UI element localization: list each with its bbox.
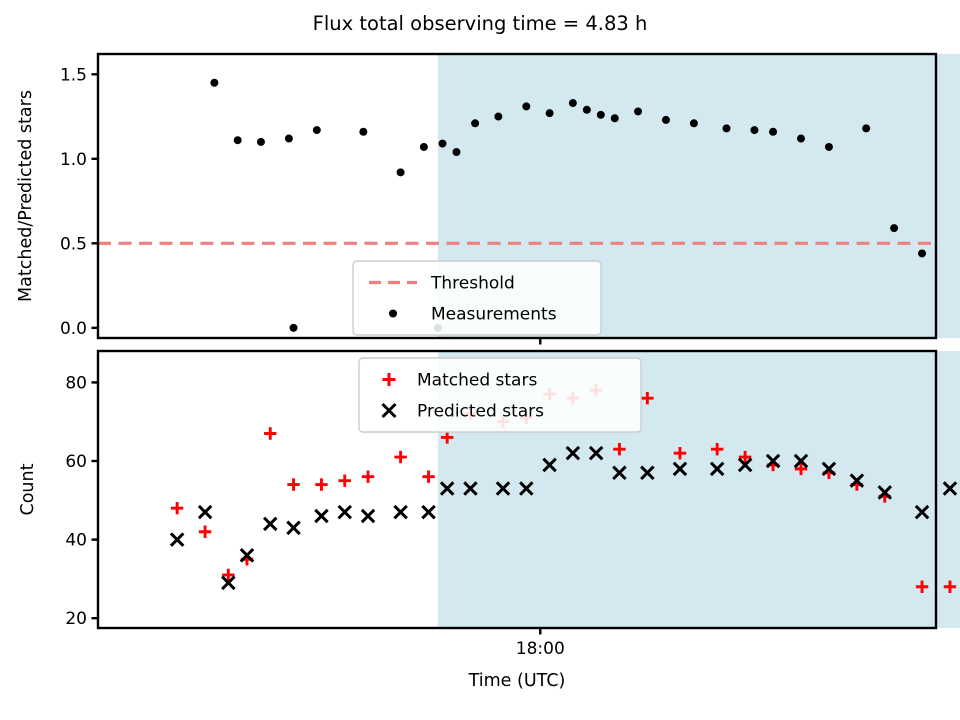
data-point (264, 427, 276, 439)
data-point (287, 522, 299, 534)
legend-marker-measurements (389, 310, 397, 318)
matplotlib-figure: 0.00.51.01.5Matched/Predicted starsThres… (0, 0, 960, 720)
y-tick-label: 80 (65, 373, 87, 393)
data-point (723, 124, 731, 132)
data-point (439, 140, 447, 148)
data-point (690, 119, 698, 127)
data-point (769, 128, 777, 136)
top-panel: 0.00.51.01.5Matched/Predicted starsThres… (16, 54, 960, 345)
x-tick-label: 18:00 (516, 639, 565, 659)
data-point (662, 116, 670, 124)
y-tick-label: 60 (65, 452, 87, 472)
x-axis-label: Time (UTC) (468, 671, 566, 691)
data-point (199, 526, 211, 538)
data-point (359, 128, 367, 136)
y-axis-label: Matched/Predicted stars (16, 90, 36, 302)
y-tick-label: 0.0 (60, 319, 87, 339)
data-point (546, 109, 554, 117)
data-point (471, 119, 479, 127)
bottom-panel: 2040608018:00CountTime (UTC)Matched star… (18, 351, 960, 691)
data-point (171, 502, 183, 514)
data-point (313, 126, 321, 134)
legend-top-panel: ThresholdMeasurements (353, 261, 601, 335)
data-point (422, 506, 434, 518)
data-point (171, 533, 183, 545)
legend-bottom-panel: Matched starsPredicted stars (359, 358, 641, 432)
data-point (257, 138, 265, 146)
data-point (583, 106, 591, 114)
data-point (264, 518, 276, 530)
data-point (611, 114, 619, 122)
legend-label: Measurements (431, 305, 557, 325)
data-point (890, 224, 898, 232)
legend-label: Threshold (430, 274, 515, 294)
legend-label: Predicted stars (417, 402, 544, 422)
data-point (394, 451, 406, 463)
y-axis-label: Count (18, 463, 38, 515)
y-tick-label: 1.5 (60, 65, 87, 85)
data-point (825, 143, 833, 151)
data-point (315, 478, 327, 490)
data-point (522, 102, 530, 110)
data-point (597, 111, 605, 119)
data-point (862, 124, 870, 132)
data-point (452, 148, 460, 156)
data-point (287, 478, 299, 490)
data-point (339, 506, 351, 518)
data-point (199, 506, 211, 518)
data-point (797, 135, 805, 143)
data-point (420, 143, 428, 151)
data-point (494, 113, 502, 121)
data-point (362, 471, 374, 483)
data-point (362, 510, 374, 522)
y-tick-label: 0.5 (60, 234, 87, 254)
figure-canvas: Flux total observing time = 4.83 h 0.00.… (0, 0, 960, 720)
data-point (234, 136, 242, 144)
data-point (918, 249, 926, 257)
y-tick-label: 40 (65, 531, 87, 551)
legend-label: Matched stars (417, 371, 537, 391)
data-point (634, 107, 642, 115)
data-point (315, 510, 327, 522)
y-tick-label: 1.0 (60, 150, 87, 170)
data-point (569, 99, 577, 107)
data-point (397, 168, 405, 176)
data-point (285, 135, 293, 143)
data-point (339, 474, 351, 486)
data-point (290, 324, 298, 332)
data-point (750, 126, 758, 134)
y-tick-label: 20 (65, 609, 87, 629)
data-point (210, 79, 218, 87)
data-point (422, 471, 434, 483)
data-point (394, 506, 406, 518)
